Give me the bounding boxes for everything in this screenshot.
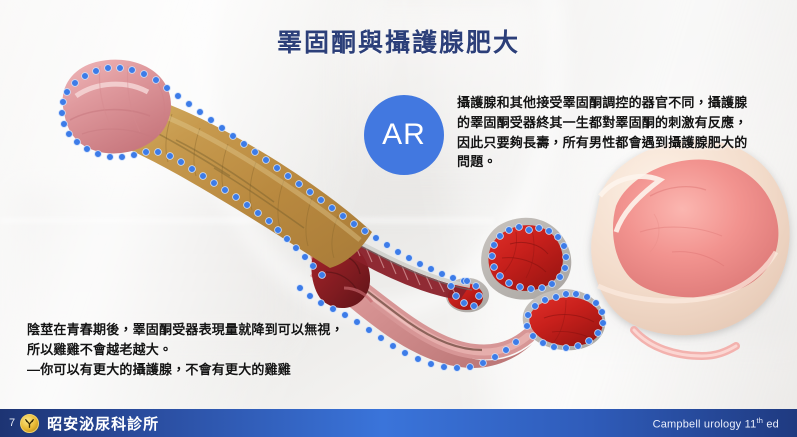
slide-title: 睪固酮與攝護腺肥大 bbox=[0, 23, 797, 59]
clinic-name: 昭安泌尿科診所 bbox=[47, 413, 159, 434]
right-text-line-4: 問題。 bbox=[457, 152, 779, 172]
ar-badge: AR bbox=[364, 95, 444, 175]
right-text-line-2: 的睪固酮受器終其一生都對睪固酮的刺激有反應， bbox=[457, 113, 779, 133]
left-text-line-3: —你可以有更大的攝護腺，不會有更大的雞雞 bbox=[27, 360, 362, 380]
left-text-line-2: 所以雞雞不會越老越大。 bbox=[27, 340, 362, 360]
clinic-logo-icon bbox=[20, 414, 39, 433]
left-text-block: 陰莖在青春期後，睪固酮受器表現量就降到可以無視， 所以雞雞不會越老越大。 —你可… bbox=[27, 320, 362, 379]
right-text-line-3: 因此只要夠長壽，所有男性都會遇到攝護腺肥大的 bbox=[457, 133, 779, 153]
right-text-line-1: 攝護腺和其他接受睪固酮調控的器官不同，攝護腺 bbox=[457, 93, 779, 113]
page-number: 7 bbox=[9, 417, 15, 429]
footer-bar: 7 昭安泌尿科診所 Campbell urology 11th ed bbox=[0, 409, 797, 437]
ar-badge-label: AR bbox=[382, 118, 426, 152]
left-text-line-1: 陰莖在青春期後，睪固酮受器表現量就降到可以無視， bbox=[27, 320, 362, 340]
source-citation-main: Campbell urology 11 bbox=[653, 418, 757, 430]
right-text-block: 攝護腺和其他接受睪固酮調控的器官不同，攝護腺 的睪固酮受器終其一生都對睪固酮的刺… bbox=[457, 93, 779, 172]
source-citation-tail: ed bbox=[763, 418, 779, 430]
slide-canvas: 睪固酮與攝護腺肥大 AR 攝護腺和其他接受睪固酮調控的器官不同，攝護腺 的睪固酮… bbox=[0, 0, 797, 437]
source-citation: Campbell urology 11th ed bbox=[653, 416, 779, 431]
